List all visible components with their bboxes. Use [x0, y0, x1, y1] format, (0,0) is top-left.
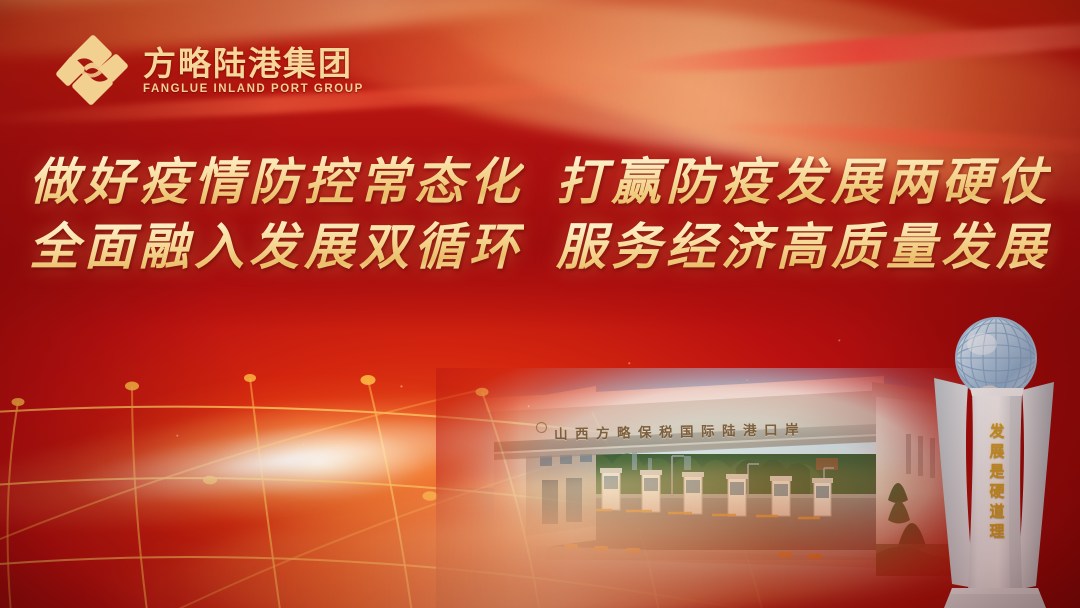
monument-sculpture: 发 展 是 硬 道 理: [922, 312, 1072, 608]
brand-name-en: FANGLUE INLAND PORT GROUP: [143, 84, 364, 96]
brand-logo: 方略陆港集团 FANGLUE INLAND PORT GROUP: [54, 33, 364, 107]
monument-char: 硬: [989, 484, 1004, 499]
monument-char: 道: [989, 504, 1004, 519]
monument-inscription: 发 展 是 硬 道 理: [989, 424, 1004, 539]
fanglue-diamond-logo-icon: [54, 33, 130, 107]
gate-illustration-icon: [436, 368, 966, 608]
monument-char: 是: [989, 464, 1004, 479]
brand-name-cn: 方略陆港集团: [143, 47, 364, 80]
monument-char: 展: [989, 444, 1004, 459]
monument-char: 发: [989, 424, 1004, 439]
gate-photo: 山西方略保税国际陆港口岸: [436, 368, 966, 608]
poster-canvas: 山西方略保税国际陆港口岸: [0, 0, 1080, 608]
monument-char: 理: [989, 524, 1004, 539]
